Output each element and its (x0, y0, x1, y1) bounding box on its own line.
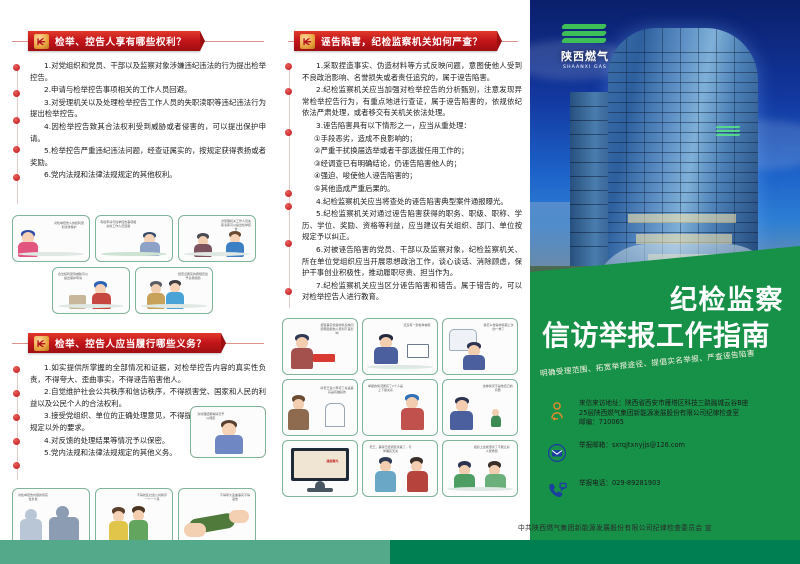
figure-body (450, 411, 473, 430)
illustration-card: 听老王说小李评了先进其实是有猫腻的 (282, 379, 358, 436)
figure-body (374, 347, 398, 364)
illustration-card: 组织上给我澄清了不能让好人受委屈 (442, 440, 518, 497)
card-ground (141, 304, 208, 308)
paragraph: ④强迫、唆使他人诬告陷害的； (302, 170, 522, 182)
illustration-card: 对受理机关工作人员失职渎职可以提出检举控告 (178, 215, 256, 262)
illustration-card: 经查证属实的按规定给予表扬奖励 (135, 267, 213, 314)
card-caption: 老王，事情已经调查清楚了，与你确实无关 (369, 445, 412, 453)
glass-col (626, 28, 627, 276)
figure-body (129, 520, 148, 542)
paragraph: 6.党内法规和法律法规规定的其他权利。 (30, 169, 266, 181)
timeline-dot (285, 63, 292, 70)
glass-row (608, 82, 758, 83)
figure-body (215, 435, 243, 454)
company-logo: 陕西燃气 SHAANXI GAS (548, 22, 622, 70)
card-caption: 这种情况不是他自己的问题 (481, 384, 514, 392)
card-caption: 对受理机关工作人员失职渎职可以提出检举控告 (220, 219, 252, 231)
logo-english-name: SHAANXI GAS (548, 65, 622, 70)
section-banner: 检举、控告人享有哪些权利？ (28, 31, 200, 51)
timeline-dot (285, 240, 292, 247)
rights-text-block: 1.对党组织和党员、干部以及监察对象涉嫌违纪违法的行为提出检举控告。 2.申请与… (10, 60, 266, 208)
person-visit-icon (544, 398, 570, 424)
card-ground (184, 252, 251, 256)
timeline-line (17, 66, 18, 204)
email-line: 举报邮箱：sxrqjtxnyjjs@126.com (579, 441, 685, 451)
card-ground (18, 252, 85, 256)
paragraph: ③经调查已有明确结论，仍诬告陷害他人的； (302, 158, 522, 170)
glass-row (608, 112, 758, 113)
contact-row-phone[interactable]: 举报电话：029-89281903 (530, 478, 800, 516)
section-header-duties: 检举、控告人应当履行哪些义务？ (12, 332, 264, 354)
card-caption: 合法权利受到威胁可以提出保护申请 (57, 272, 89, 280)
card-caption: 对检举控告人的权利受到法律保护 (53, 221, 85, 229)
card-ground (367, 365, 432, 369)
section-title: 诬告陷害，纪检监察机关如何严查？ (321, 34, 483, 48)
card-caption: 举报的情况属实了2个人是上下级关系 (367, 384, 404, 392)
party-emblem-icon (300, 34, 315, 49)
address-line-3: 邮编：710065 (579, 418, 748, 428)
timeline-dot (285, 203, 292, 210)
glass-row (608, 232, 758, 233)
party-emblem-icon (34, 336, 49, 351)
figure-body (109, 521, 128, 542)
glass-row (608, 142, 758, 143)
figure-body (20, 519, 42, 542)
illustration-card: 我怎么觉得材料跟上次的一样了 (442, 318, 518, 375)
stamp-prop (313, 354, 335, 362)
monitor-base (307, 488, 333, 492)
card-ground (101, 252, 168, 256)
hand-prop (184, 523, 206, 537)
timeline-dot (13, 174, 20, 181)
glass-row (608, 52, 758, 53)
contact-email-text: 举报邮箱：sxrqjtxnyjjs@126.com (579, 440, 685, 451)
monitor-screen (294, 451, 346, 478)
bottom-bar-left (0, 540, 390, 564)
card-caption: 不得扰乱社会公共秩序一个一个来 (136, 493, 168, 501)
paragraph: 4.因检举控告致其合法权利受到威胁或者侵害的，可以提出保护申请。 (30, 121, 266, 144)
contact-row-email[interactable]: 举报邮箱：sxrqjtxnyjjs@126.com (530, 440, 800, 478)
glass-row (608, 102, 758, 103)
section-header-rights: 检举、控告人享有哪些权利？ (12, 30, 264, 52)
illustration-card: 通报曝光 (282, 440, 358, 497)
publisher-footer-note: 中共陕西燃气集团新能源发展股份有限公司纪律检查委员会 宣 (440, 522, 790, 532)
envelope-prop (407, 344, 429, 358)
paragraph: 1.如实提供所掌握的全部情况和证据，对检举控告内容的真实性负责，不得夸大、歪曲事… (30, 362, 266, 385)
timeline-dot (285, 129, 292, 136)
party-emblem-icon (34, 34, 49, 49)
card-caption: 我怎么觉得材料跟上次的一样了 (483, 323, 514, 331)
brochure-page: 检举、控告人享有哪些权利？ 1.对党组织和党员、干部以及监察对象涉嫌违纪违法的行… (0, 0, 800, 564)
card-caption: 经查证属实的按规定给予表扬奖励 (177, 272, 209, 280)
illustration-card: 老王，事情已经调查清楚了，与你确实无关 (362, 440, 438, 497)
card-caption: 组织上给我澄清了不能让好人受委屈 (473, 445, 511, 453)
glass-row (608, 182, 758, 183)
illustration-card: 对处理结果等情况予以保密 (190, 406, 266, 458)
paragraph: 5.检举控告严重违纪违法问题，经查证属实的，按规定获得表扬或者奖励。 (30, 145, 266, 168)
paragraph: ⑤其他造成严重后果的。 (302, 183, 522, 195)
illustration-cards-false-accusation: 捏造事实伪造材料反映问题意图使他人受到不良影响 还没有一封检举信呢 我怎么觉得材… (282, 318, 522, 497)
glass-row (608, 162, 758, 163)
card-ground (58, 304, 125, 308)
telephone-icon (544, 478, 570, 504)
figure-body (288, 409, 309, 430)
contact-list: 来信来访地址：陕西省西安市雁塔区科技三路融城云谷B座 25层陕西燃气集团新能源发… (530, 398, 800, 516)
timeline-dot (13, 390, 20, 397)
figure-body (375, 471, 396, 492)
card-caption: 对处理结果等情况予以保密 (196, 412, 226, 420)
paragraph: 7.纪检监察机关应当区分诬告陷害和错告。属于错告的，可以对检举控告人进行教育。 (302, 280, 522, 303)
illustration-card: 有权申请与检举控告事项相关的工作人员回避 (95, 215, 173, 262)
illustration-card: 举报的情况属实了2个人是上下级关系 (362, 379, 438, 436)
figure-body (463, 355, 485, 370)
figure-body (401, 408, 424, 430)
paragraph: ②严重干扰换届选举或者干部选拔任用工作的； (302, 145, 522, 157)
card-caption: 通报曝光 (320, 459, 345, 463)
card-caption: 捏造事实伪造材料反映问题意图使他人受到不良影响 (320, 323, 354, 335)
card-caption: 有权申请与检举控告事项相关的工作人员回避 (100, 220, 136, 228)
illustration-card: 对检举控告内容的真实性负责 (12, 488, 90, 548)
cover-title-line2-part1: 信访举报 (542, 319, 656, 352)
timeline-line (289, 66, 290, 308)
timeline-dot (13, 117, 20, 124)
contact-address-text: 来信来访地址：陕西省西安市雁塔区科技三路融城云谷B座 25层陕西燃气集团新能源发… (579, 398, 748, 428)
timeline-dot (285, 190, 292, 197)
glass-col (734, 28, 735, 276)
glass-row (608, 72, 758, 73)
glass-row (608, 62, 758, 63)
lit-window (628, 214, 736, 223)
swoosh-logo-icon (548, 22, 622, 48)
timeline-dot (13, 366, 20, 373)
phone-line: 举报电话：029-89281903 (579, 479, 661, 489)
paragraph: 3.诬告陷害具有以下情形之一，应当从重处理： (302, 120, 522, 132)
paragraph: 1.采取捏造事实、伪造材料等方式反映问题，意图使他人受到不良政治影响、名誉损失或… (302, 60, 522, 83)
illustration-card: 捏造事实伪造材料反映问题意图使他人受到不良影响 (282, 318, 358, 375)
envelope-icon (544, 440, 570, 466)
cover-title-block: 纪检监察 信访举报工作指南 明确受理范围、拓宽举报途径、提倡实名举报、严查诬告陷… (530, 268, 800, 378)
timeline-dot (13, 438, 20, 445)
figure-body (49, 517, 79, 542)
address-line-2: 25层陕西燃气集团新能源发展股份有限公司纪律检查室 (579, 409, 748, 419)
contact-row-address: 来信来访地址：陕西省西安市雁塔区科技三路融城云谷B座 25层陕西燃气集团新能源发… (530, 398, 800, 440)
cover-title-line2: 信访举报工作指南 (542, 314, 770, 354)
timeline-dot (285, 88, 292, 95)
timeline-dot (13, 146, 20, 153)
illustration-card: 合法权利受到威胁可以提出保护申请 (52, 267, 130, 314)
paragraph: 6.对被诬告陷害的党员、干部以及监察对象，纪检监察机关、所在单位党组织应当开展思… (302, 244, 522, 279)
section-banner: 诬告陷害，纪检监察机关如何严查？ (294, 31, 497, 51)
middle-column: 诬告陷害，纪检监察机关如何严查？ 1.采取捏造事实、伪造材料等方式反映问题，意图… (276, 0, 530, 540)
illustration-card: 不得夸大歪曲事实不得诬告 (178, 488, 256, 548)
figure-head (492, 409, 499, 416)
card-caption: 还没有一封检举信呢 (400, 323, 434, 327)
tower-logo-icon (716, 126, 742, 138)
paragraph: 2.申请与检举控告事项相关的工作人员回避。 (30, 84, 266, 96)
paragraph: 2.纪检监察机关应当加强对检举控告的分析甄别，注意发现异常检举控告行为，有重点地… (302, 84, 522, 119)
glass-row (608, 92, 758, 93)
figure-body (407, 471, 428, 492)
paragraph: 4.对反馈的处理结果等情况予以保密。 (30, 435, 202, 447)
false-accusation-text-block: 1.采取捏造事实、伪造材料等方式反映问题，意图使他人受到不良政治影响、名誉损失或… (282, 60, 522, 312)
glass-row (608, 192, 758, 193)
chair-prop (325, 403, 345, 427)
card-caption: 对检举控告内容的真实性负责 (17, 493, 49, 501)
illustration-card: 对检举控告人的权利受到法律保护 (12, 215, 90, 262)
left-column: 检举、控告人享有哪些权利？ 1.对党组织和党员、干部以及监察对象涉嫌违纪违法的行… (0, 0, 276, 540)
card-caption: 不得夸大歪曲事实不得诬告 (219, 493, 251, 501)
figure-body (291, 348, 313, 369)
paragraph: 3.对受理机关以及处理检举控告工作人员的失职渎职等违纪违法行为提出检举控告。 (30, 97, 266, 120)
cover-title-line1: 纪检监察 (670, 278, 784, 317)
illustration-card: 还没有一封检举信呢 (362, 318, 438, 375)
main-tower (608, 28, 758, 276)
logo-chinese-name: 陕西燃气 (548, 48, 622, 64)
card-caption: 听老王说小李评了先进其实是有猫腻的 (320, 386, 354, 394)
illustration-cards-rights: 对检举控告人的权利受到法律保护 有权申请与检举控告事项相关的工作人员回避 对受理… (12, 215, 264, 314)
paragraph: ①手段恶劣，造成不良影响的； (302, 133, 522, 145)
paragraph: 1.对党组织和党员、干部以及监察对象涉嫌违纪违法的行为提出检举控告。 (30, 60, 266, 83)
glass-row (608, 202, 758, 203)
lit-window (636, 234, 732, 244)
section-banner: 检举、控告人应当履行哪些义务？ (28, 333, 221, 353)
glass-row (608, 212, 758, 213)
glass-row (608, 122, 758, 123)
illustration-cards-duties: 对检举控告内容的真实性负责 不得扰乱社会公共秩序一个一个来 不得夸大歪曲事实不得… (12, 488, 264, 548)
section-title: 检举、控告人享有哪些权利？ (55, 34, 186, 48)
glass-row (608, 172, 758, 173)
bottom-color-bar (0, 540, 800, 564)
figure-body (491, 415, 501, 427)
glass-row (608, 152, 758, 153)
right-cover-panel: 陕西燃气 SHAANXI GAS 纪检监察 信访举报工作指南 明确受理范围、拓宽… (530, 0, 800, 564)
timeline-dot (13, 64, 20, 71)
paragraph: 4.纪检监察机关应当将查处的诬告陷害典型案件通报曝光。 (302, 196, 522, 208)
illustration-card: 这种情况不是他自己的问题 (442, 379, 518, 436)
paragraph: 5.纪检监察机关对通过诬告陷害获得的职务、职级、职称、学历、学位、奖励、资格等利… (302, 208, 522, 243)
address-line-1: 来信来访地址：陕西省西安市雁塔区科技三路融城云谷B座 (579, 399, 748, 409)
timeline-dot (13, 462, 20, 469)
timeline-dot (285, 288, 292, 295)
hand-prop (229, 510, 249, 523)
timeline-dot (13, 414, 20, 421)
bottom-bar-right (390, 540, 800, 564)
card-ground (447, 487, 512, 491)
section-title: 检举、控告人应当履行哪些义务？ (55, 336, 207, 350)
illustration-card: 不得扰乱社会公共秩序一个一个来 (95, 488, 173, 548)
section-header-false-accusation: 诬告陷害，纪检监察机关如何严查？ (288, 30, 518, 52)
paragraph: 5.党内法规和法律法规规定的其他义务。 (30, 447, 202, 459)
contact-phone-text: 举报电话：029-89281903 (579, 478, 661, 489)
timeline-dot (13, 90, 20, 97)
